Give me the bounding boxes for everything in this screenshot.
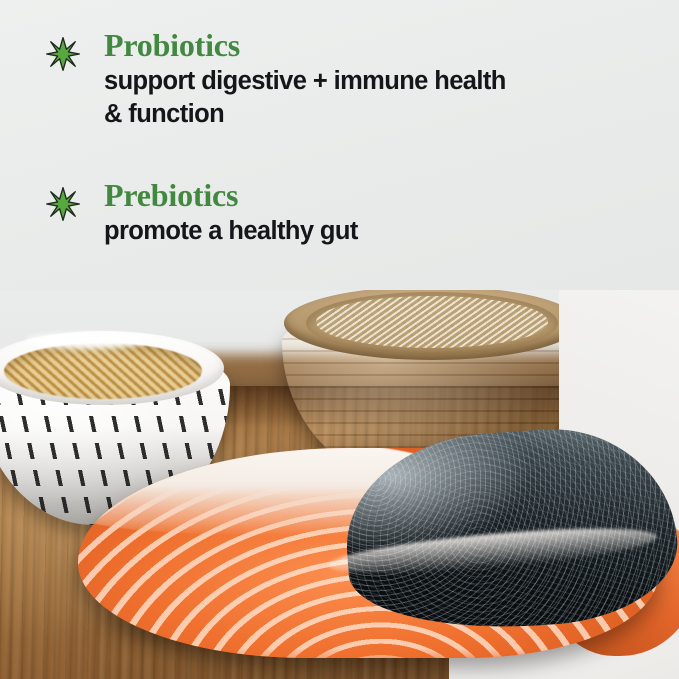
benefit-heading-prebiotics: Prebiotics — [104, 177, 238, 214]
white-bowl-highlight — [26, 333, 146, 349]
benefit-heading-probiotics: Probiotics — [104, 27, 240, 64]
wooden-bowl-oats-texture — [316, 296, 548, 348]
benefit-body-prebiotics: promote a healthy gut — [104, 215, 664, 248]
salmon-fillet — [78, 448, 658, 658]
benefits-copy-block: Probiotics support digestive + immune he… — [0, 0, 679, 290]
green-starburst-icon — [46, 187, 80, 221]
food-photo — [0, 258, 679, 679]
product-benefit-graphic: Probiotics support digestive + immune he… — [0, 0, 679, 679]
white-bowl-grain-contents — [4, 343, 202, 399]
green-starburst-icon — [46, 37, 80, 71]
benefit-body-probiotics: support digestive + immune health & func… — [104, 65, 664, 131]
